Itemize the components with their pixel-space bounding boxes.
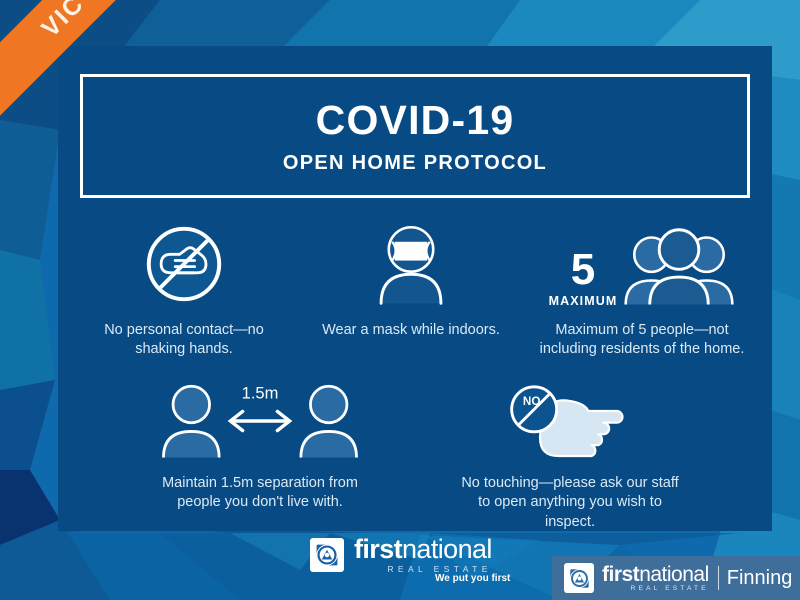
face-mask-person-icon (364, 216, 458, 308)
protocol-item-max-five: 5 MAXIMUM (527, 216, 757, 359)
max-count-label: MAXIMUM (549, 294, 618, 308)
protocol-row-1: No personal contact—no shaking hands. (58, 216, 772, 359)
first-national-logo-icon (564, 563, 594, 593)
first-national-logo-icon (310, 538, 344, 572)
badge-divider (718, 566, 719, 590)
first-national-logo: firstnational REAL ESTATE (310, 536, 492, 574)
page-subtitle: OPEN HOME PROTOCOL (283, 153, 547, 173)
protocol-caption: Maximum of 5 people—not including reside… (540, 321, 745, 359)
logo-wordmark: firstnational (354, 536, 492, 563)
protocol-grid: No personal contact—no shaking hands. (58, 216, 772, 532)
protocol-item-distance: 1.5m Maintain 1.5m separation from peopl… (110, 381, 410, 512)
logo-word-first: first (354, 534, 402, 564)
badge-word-national: national (639, 563, 709, 586)
protocol-caption: Maintain 1.5m separation from people you… (153, 474, 368, 512)
poster-canvas: COVID-19 OPEN HOME PROTOCOL (0, 0, 800, 600)
ribbon-label: VIC (36, 0, 90, 43)
protocol-row-2: 1.5m Maintain 1.5m separation from peopl… (58, 381, 772, 531)
logo-tagline: We put you first (435, 573, 510, 584)
social-distance-icon: 1.5m (160, 381, 360, 461)
protocol-item-no-contact: No personal contact—no shaking hands. (73, 216, 295, 359)
protocol-caption: No personal contact—no shaking hands. (82, 321, 287, 359)
no-handshake-icon (140, 216, 228, 308)
max-count-number: 5 (571, 250, 595, 290)
no-touching-hand-icon: NO (495, 381, 645, 461)
logo-word-national: national (402, 534, 492, 564)
badge-word-first: first (602, 563, 639, 586)
protocol-item-wear-mask: Wear a mask while indoors. (313, 216, 509, 340)
badge-wordmark: firstnational (602, 564, 709, 585)
badge-subtitle: REAL ESTATE (602, 586, 709, 593)
protocol-item-no-touching: NO No touching—please ask our staff to o… (420, 381, 720, 531)
office-badge: firstnational REAL ESTATE Finning (552, 556, 800, 600)
protocol-caption: No touching—please ask our staff to open… (460, 474, 680, 531)
corner-ribbon: VIC (0, 0, 190, 190)
badge-office-name: Finning (727, 567, 793, 590)
distance-label: 1.5m (242, 384, 279, 403)
page-title: COVID-19 (316, 100, 515, 141)
max-count-block: 5 MAXIMUM (549, 250, 618, 308)
protocol-caption: Wear a mask while indoors. (322, 321, 500, 340)
group-of-people-icon (623, 222, 735, 308)
no-badge-label: NO (523, 395, 540, 408)
